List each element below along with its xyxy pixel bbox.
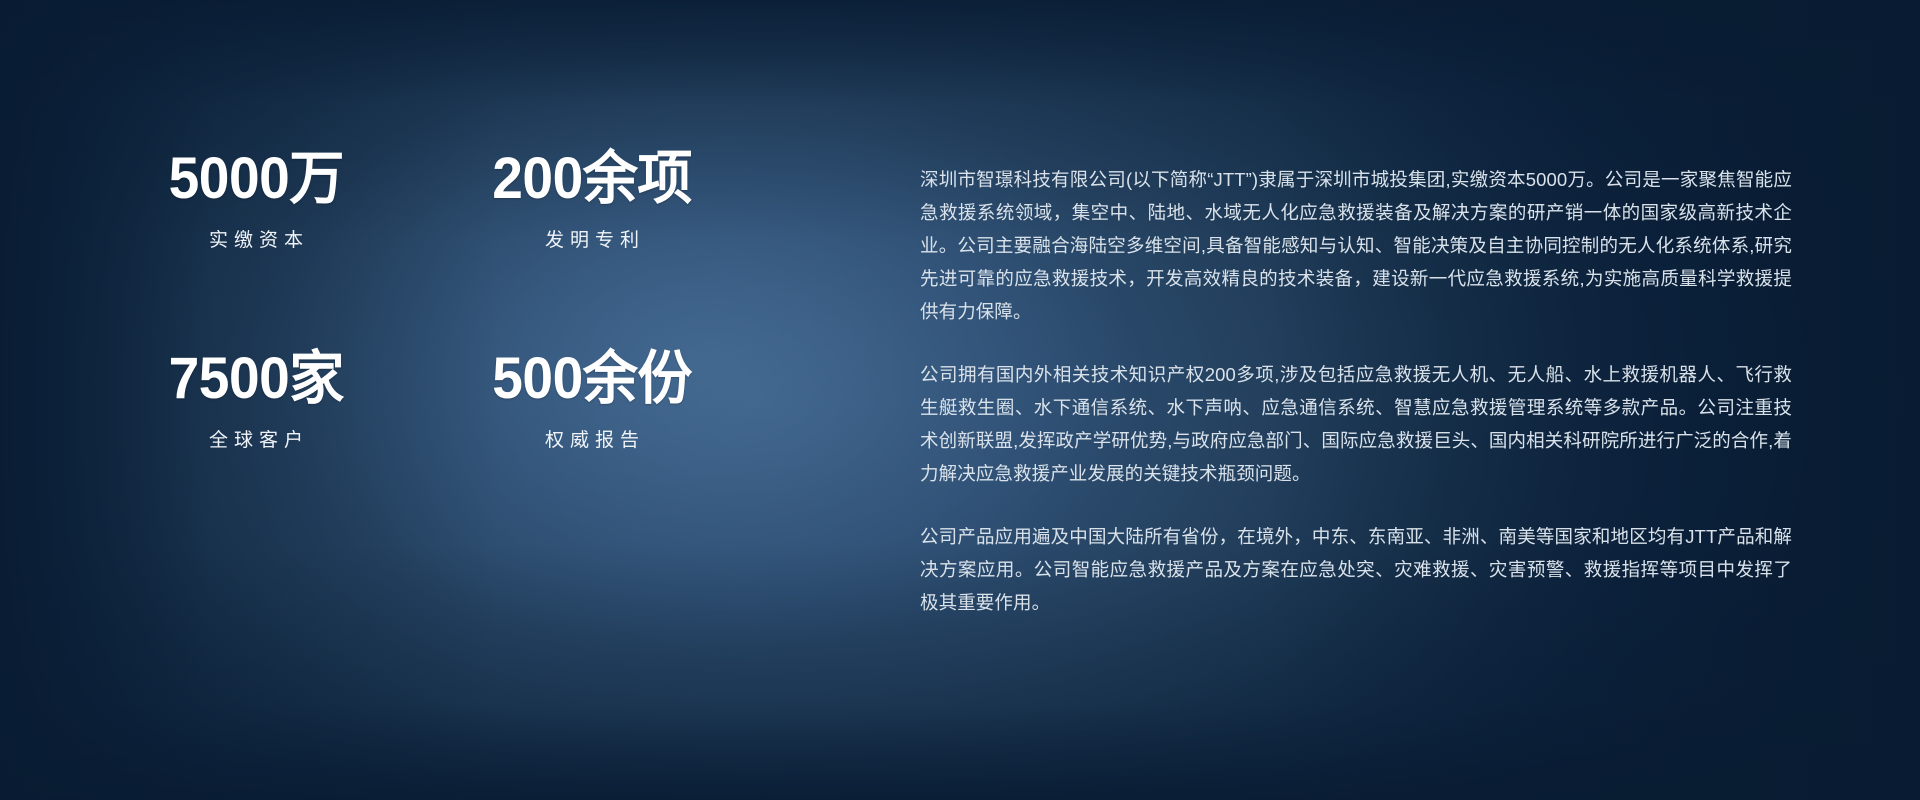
stat-label: 实缴资本 bbox=[203, 229, 309, 254]
stat-card-registered-capital: 5000万 实缴资本 bbox=[96, 148, 416, 308]
stat-card-invention-patents: 200余项 发明专利 bbox=[432, 148, 752, 308]
company-profile-slide: 5000万 实缴资本 200余项 发明专利 7500家 全球客户 500余份 权… bbox=[0, 0, 1920, 800]
statistics-grid: 5000万 实缴资本 200余项 发明专利 7500家 全球客户 500余份 权… bbox=[96, 148, 796, 508]
stat-card-global-customers: 7500家 全球客户 bbox=[96, 348, 416, 508]
stat-value: 500余份 bbox=[492, 348, 692, 409]
stat-label: 全球客户 bbox=[203, 429, 309, 454]
stat-value: 200余项 bbox=[492, 148, 692, 209]
slide-content: 5000万 实缴资本 200余项 发明专利 7500家 全球客户 500余份 权… bbox=[0, 0, 1920, 800]
stat-card-authoritative-reports: 500余份 权威报告 bbox=[432, 348, 752, 508]
stat-value: 7500家 bbox=[168, 348, 343, 409]
stat-label: 发明专利 bbox=[539, 229, 645, 254]
description-paragraph-3: 公司产品应用遍及中国大陆所有省份，在境外，中东、东南亚、非洲、南美等国家和地区均… bbox=[920, 520, 1792, 619]
description-paragraph-1: 深圳市智璟科技有限公司(以下简称“JTT”)隶属于深圳市城投集团,实缴资本500… bbox=[920, 163, 1792, 328]
description-paragraph-2: 公司拥有国内外相关技术知识产权200多项,涉及包括应急救援无人机、无人船、水上救… bbox=[920, 358, 1792, 490]
stat-label: 权威报告 bbox=[539, 429, 645, 454]
company-description: 深圳市智璟科技有限公司(以下简称“JTT”)隶属于深圳市城投集团,实缴资本500… bbox=[920, 163, 1792, 619]
stat-value: 5000万 bbox=[168, 148, 343, 209]
